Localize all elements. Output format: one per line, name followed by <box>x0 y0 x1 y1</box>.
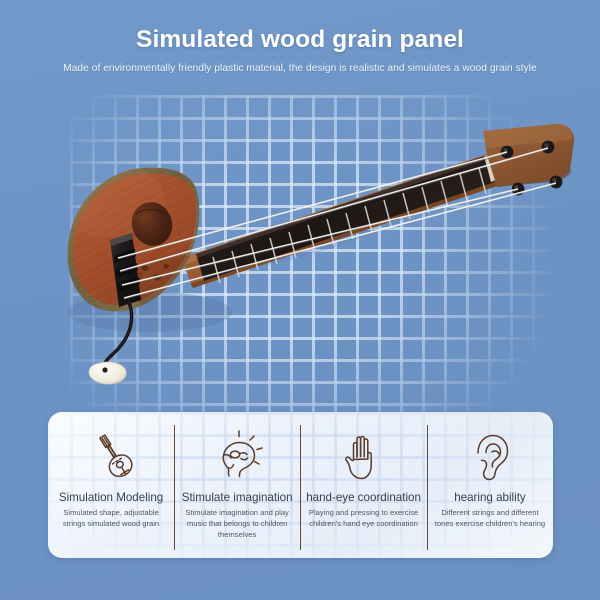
feature-title: hearing ability <box>454 491 526 504</box>
pick-cord <box>103 302 132 371</box>
feature-card-stimulate-imagination: Stimulate imagination Stimulate imaginat… <box>174 412 300 558</box>
sound-hole <box>126 196 179 251</box>
feature-title: Simulation Modeling <box>59 491 163 504</box>
ukulele-neck <box>181 154 497 288</box>
feature-panel: Simulation Modeling Simulated shape, adj… <box>48 412 553 558</box>
feature-title: hand-eye coordination <box>306 491 421 504</box>
page-title: Simulated wood grain panel <box>0 26 600 54</box>
hand-icon <box>336 424 392 488</box>
feature-description: Stimulate imagination and play music tha… <box>180 508 294 540</box>
ukulele-body <box>55 160 220 325</box>
header: Simulated wood grain panel Made of envir… <box>0 26 600 74</box>
background-grid <box>70 95 550 425</box>
product-marketing-image: Simulated wood grain panel Made of envir… <box>0 0 600 600</box>
feature-card-simulation-modeling: Simulation Modeling Simulated shape, adj… <box>48 412 174 558</box>
strings <box>118 148 556 298</box>
feature-description: Playing and pressing to exercise childre… <box>306 508 421 530</box>
headstock <box>483 124 574 196</box>
guitar-icon <box>78 424 144 488</box>
ukulele-fretboard <box>196 153 499 283</box>
guitar-pick <box>89 362 126 384</box>
feature-description: Different strings and different tones ex… <box>433 508 547 530</box>
tuning-pegs <box>501 141 563 196</box>
body-decoration <box>127 250 169 286</box>
feature-title: Stimulate imagination <box>182 491 293 504</box>
feature-card-hearing-ability: hearing ability Different strings and di… <box>427 412 553 558</box>
head-idea-icon <box>206 424 268 488</box>
page-subtitle: Made of environmentally friendly plastic… <box>0 63 600 74</box>
feature-card-hand-eye-coordination: hand-eye coordination Playing and pressi… <box>300 412 427 558</box>
ear-icon <box>462 424 518 488</box>
bridge <box>110 233 141 307</box>
feature-description: Simulated shape, adjustable strings simu… <box>54 508 168 530</box>
